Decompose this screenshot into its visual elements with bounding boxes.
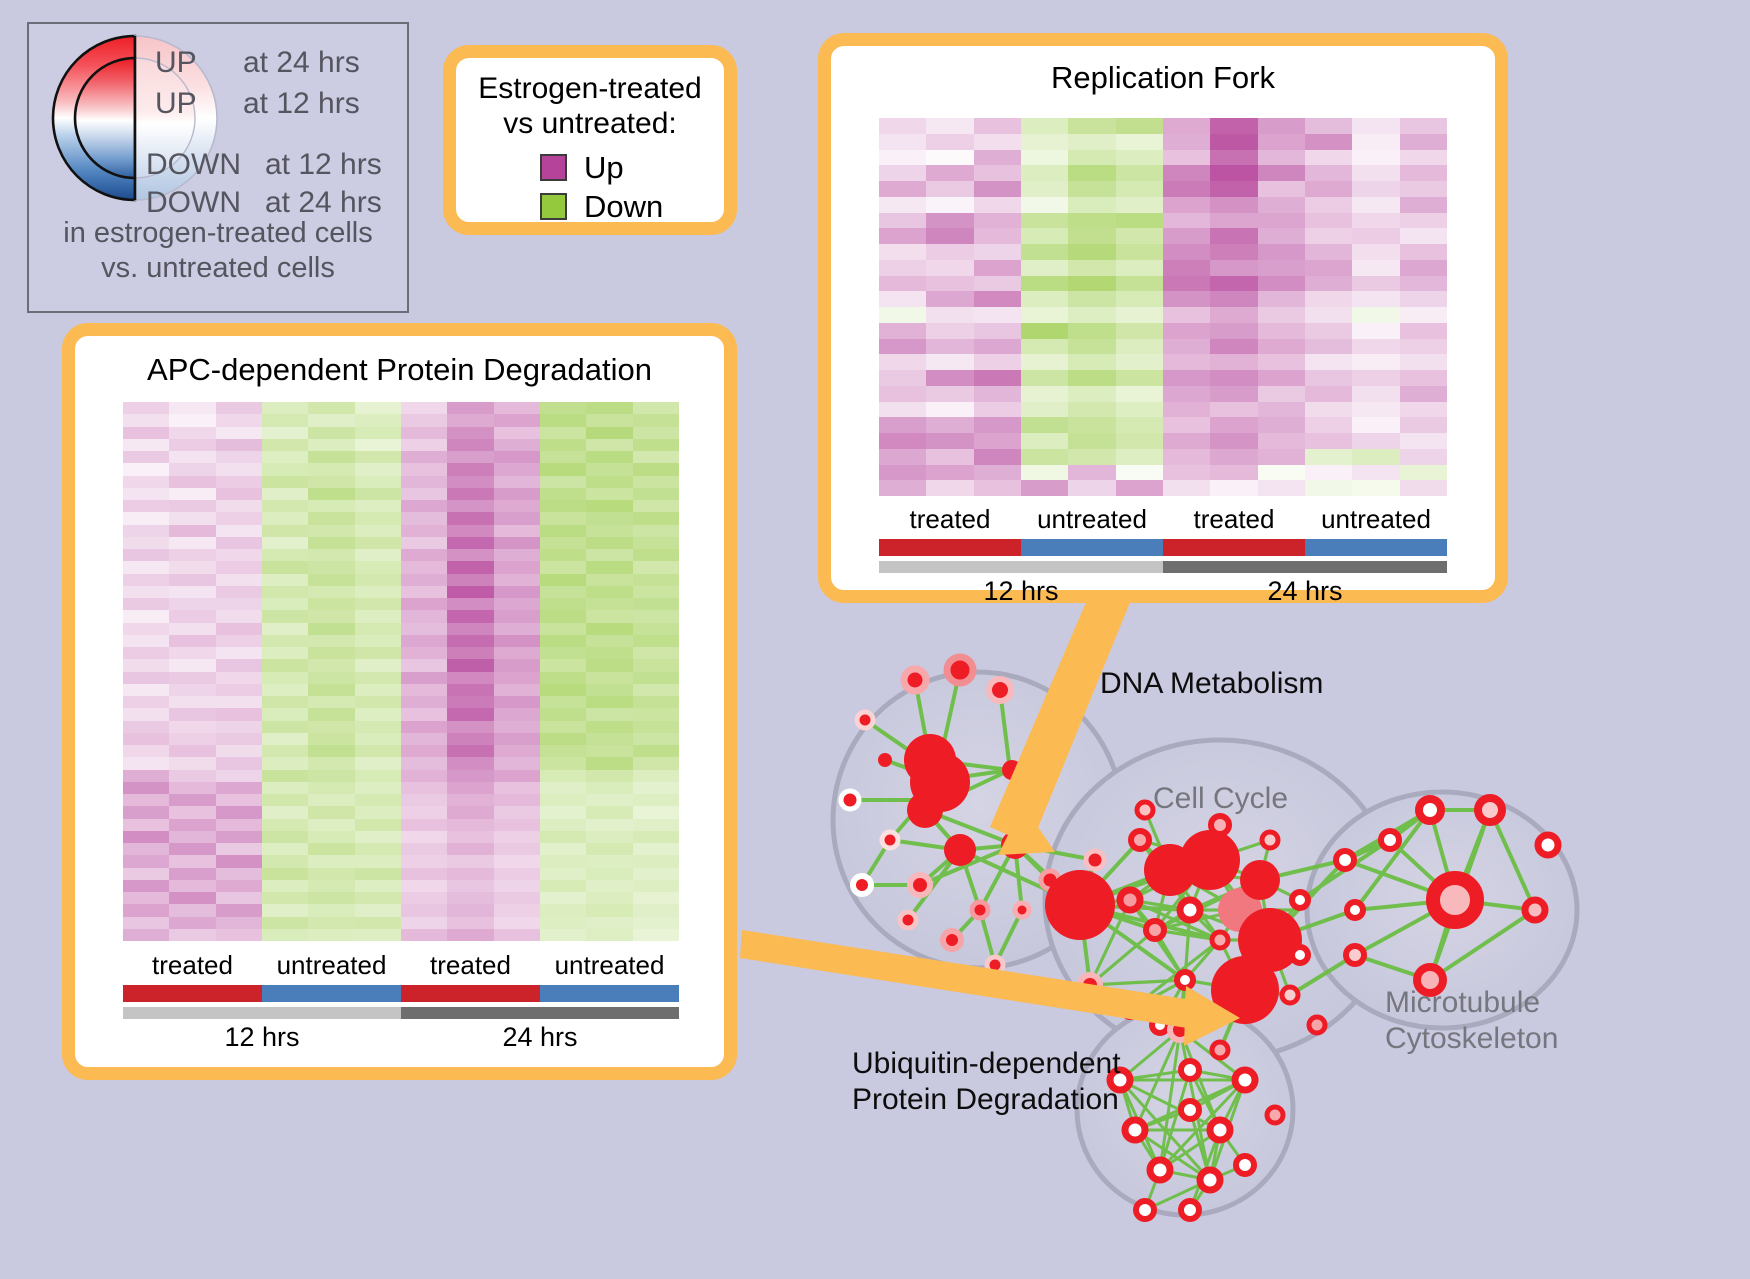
heatmap-cell bbox=[540, 745, 586, 757]
heatmap-cell bbox=[1352, 449, 1399, 465]
heatmap-cell bbox=[974, 480, 1021, 496]
network-node[interactable] bbox=[1346, 946, 1364, 964]
apc-degradation-panel: APC-dependent Protein Degradation treate… bbox=[62, 323, 737, 1080]
network-node[interactable] bbox=[904, 669, 926, 691]
heatmap-cell bbox=[355, 904, 401, 916]
heatmap-cell bbox=[1068, 370, 1115, 386]
heatmap-cell bbox=[540, 439, 586, 451]
network-node[interactable] bbox=[1478, 798, 1502, 822]
network-node[interactable] bbox=[1170, 1020, 1190, 1040]
heatmap-cell bbox=[401, 929, 447, 941]
heatmap-cell bbox=[355, 574, 401, 586]
heatmap-cell bbox=[123, 586, 169, 598]
sample-label-untreated-24: untreated bbox=[540, 950, 679, 981]
heatmap-cell bbox=[494, 549, 540, 561]
heatmap-cell bbox=[401, 831, 447, 843]
heatmap-cell bbox=[1163, 213, 1210, 229]
heatmap-cell bbox=[308, 463, 354, 475]
heatmap-cell bbox=[401, 476, 447, 488]
heatmap-cell bbox=[216, 757, 262, 769]
heatmap-cell bbox=[447, 414, 493, 426]
heatmap-cell bbox=[926, 465, 973, 481]
network-node[interactable] bbox=[853, 876, 871, 894]
network-node[interactable] bbox=[1336, 851, 1354, 869]
heatmap-cell bbox=[1021, 307, 1068, 323]
heatmap-cell bbox=[123, 659, 169, 671]
heatmap-cell bbox=[169, 525, 215, 537]
network-node[interactable] bbox=[1125, 1120, 1145, 1140]
heatmap-cell bbox=[1400, 260, 1447, 276]
network-node[interactable] bbox=[1152, 1017, 1168, 1033]
network-node[interactable] bbox=[947, 657, 973, 683]
heatmap-cell bbox=[633, 770, 679, 782]
heatmap-cell bbox=[123, 463, 169, 475]
heatmap-cell bbox=[262, 782, 308, 794]
network-node[interactable] bbox=[1200, 1170, 1220, 1190]
heatmap-cell bbox=[216, 659, 262, 671]
network-node[interactable] bbox=[1146, 921, 1164, 939]
heatmap-cell bbox=[879, 150, 926, 166]
heatmap-cell bbox=[401, 635, 447, 647]
heatmap-cell bbox=[216, 512, 262, 524]
heatmap-cell bbox=[1400, 197, 1447, 213]
heatmap-cell bbox=[169, 843, 215, 855]
heatmap-cell bbox=[1068, 465, 1115, 481]
heatmap-cell bbox=[586, 868, 632, 880]
heatmap-cell bbox=[879, 449, 926, 465]
heatmap-cell bbox=[633, 806, 679, 818]
heatmap-cell bbox=[1116, 386, 1163, 402]
heatmap-cell bbox=[216, 733, 262, 745]
network-node[interactable] bbox=[1212, 932, 1228, 948]
heatmap-cell bbox=[1163, 118, 1210, 134]
heatmap-cell bbox=[586, 414, 632, 426]
heatmap-cell bbox=[401, 770, 447, 782]
heatmap-cell bbox=[1400, 323, 1447, 339]
heatmap-cell bbox=[1068, 276, 1115, 292]
legend-title-line1: Estrogen-treated bbox=[456, 71, 724, 106]
heatmap-cell bbox=[1163, 417, 1210, 433]
heatmap-cell bbox=[216, 623, 262, 635]
heatmap-cell bbox=[1116, 134, 1163, 150]
network-node[interactable] bbox=[1347, 902, 1363, 918]
key-row-up-12-label: UP bbox=[155, 87, 197, 121]
heatmap-cell bbox=[262, 610, 308, 622]
heatmap-cell bbox=[1258, 354, 1305, 370]
heatmap-cell bbox=[974, 260, 1021, 276]
replication-fork-heatmap-wrap: treated untreated treated untreated 12 h… bbox=[879, 118, 1447, 607]
network-node[interactable] bbox=[1267, 1107, 1283, 1123]
heatmap-cell bbox=[586, 745, 632, 757]
condition-bar-untreated-24 bbox=[1305, 539, 1447, 556]
heatmap-cell bbox=[633, 819, 679, 831]
heatmap-cell bbox=[308, 610, 354, 622]
heatmap-cell bbox=[926, 213, 973, 229]
heatmap-cell bbox=[1400, 386, 1447, 402]
heatmap-cell bbox=[401, 733, 447, 745]
heatmap-cell bbox=[123, 476, 169, 488]
legend-item-up: Up bbox=[540, 150, 724, 186]
heatmap-cell bbox=[123, 782, 169, 794]
heatmap-cell bbox=[216, 451, 262, 463]
heatmap-cell bbox=[633, 917, 679, 929]
heatmap-cell bbox=[879, 197, 926, 213]
heatmap-cell bbox=[974, 323, 1021, 339]
network-node[interactable] bbox=[1002, 760, 1022, 780]
network-node[interactable] bbox=[1181, 1061, 1199, 1079]
heatmap-cell bbox=[355, 782, 401, 794]
heatmap-cell bbox=[262, 868, 308, 880]
heatmap-cell bbox=[586, 586, 632, 598]
heatmap-cell bbox=[1068, 260, 1115, 276]
network-node[interactable] bbox=[1136, 1201, 1154, 1219]
heatmap-cell bbox=[308, 745, 354, 757]
network-node[interactable] bbox=[1180, 830, 1240, 890]
network-node[interactable] bbox=[1262, 832, 1278, 848]
heatmap-cell bbox=[401, 561, 447, 573]
heatmap-cell bbox=[401, 512, 447, 524]
heatmap-cell bbox=[494, 512, 540, 524]
heatmap-cell bbox=[262, 892, 308, 904]
network-node[interactable] bbox=[1211, 816, 1229, 834]
heatmap-cell bbox=[447, 733, 493, 745]
network-node[interactable] bbox=[1181, 1201, 1199, 1219]
heatmap-cell bbox=[355, 721, 401, 733]
heatmap-cell bbox=[169, 610, 215, 622]
heatmap-cell bbox=[401, 794, 447, 806]
network-node[interactable] bbox=[910, 875, 930, 895]
time-label-24hrs: 24 hrs bbox=[401, 1022, 679, 1053]
apc-heatmap-wrap: treated untreated treated untreated 12 h… bbox=[123, 402, 679, 1053]
heatmap-cell bbox=[169, 721, 215, 733]
network-node[interactable] bbox=[1538, 835, 1558, 855]
heatmap-cell bbox=[1163, 339, 1210, 355]
heatmap-cell bbox=[1305, 260, 1352, 276]
heatmap-cell bbox=[494, 782, 540, 794]
heatmap-cell bbox=[355, 770, 401, 782]
heatmap-cell bbox=[633, 843, 679, 855]
heatmap-cell bbox=[262, 806, 308, 818]
heatmap-cell bbox=[123, 855, 169, 867]
heatmap-cell bbox=[633, 831, 679, 843]
heatmap-cell bbox=[1116, 118, 1163, 134]
heatmap-cell bbox=[216, 598, 262, 610]
network-node[interactable] bbox=[900, 912, 916, 928]
heatmap-cell bbox=[540, 525, 586, 537]
heatmap-cell bbox=[216, 672, 262, 684]
heatmap-cell bbox=[926, 244, 973, 260]
heatmap-cell bbox=[169, 427, 215, 439]
heatmap-cell bbox=[401, 586, 447, 598]
heatmap-cell bbox=[401, 684, 447, 696]
heatmap-cell bbox=[1400, 402, 1447, 418]
heatmap-cell bbox=[169, 929, 215, 941]
heatmap-cell bbox=[262, 451, 308, 463]
heatmap-cell bbox=[633, 414, 679, 426]
heatmap-cell bbox=[216, 635, 262, 647]
heatmap-cell bbox=[1116, 339, 1163, 355]
heatmap-cell bbox=[1021, 449, 1068, 465]
network-node[interactable] bbox=[878, 753, 892, 767]
heatmap-cell bbox=[447, 476, 493, 488]
heatmap-cell bbox=[169, 880, 215, 892]
network-node[interactable] bbox=[1235, 1070, 1255, 1090]
heatmap-cell bbox=[355, 806, 401, 818]
heatmap-cell bbox=[494, 917, 540, 929]
network-node[interactable] bbox=[841, 791, 859, 809]
heatmap-cell bbox=[1258, 370, 1305, 386]
heatmap-cell bbox=[1210, 276, 1257, 292]
heatmap-cell bbox=[123, 402, 169, 414]
heatmap-cell bbox=[586, 561, 632, 573]
heatmap-cell bbox=[540, 647, 586, 659]
heatmap-cell bbox=[540, 904, 586, 916]
heatmap-cell bbox=[1116, 465, 1163, 481]
heatmap-cell bbox=[1210, 354, 1257, 370]
network-node[interactable] bbox=[1292, 892, 1308, 908]
heatmap-cell bbox=[1210, 480, 1257, 496]
network-node[interactable] bbox=[1150, 1160, 1170, 1180]
heatmap-cell bbox=[974, 244, 1021, 260]
heatmap-cell bbox=[926, 165, 973, 181]
heatmap-cell bbox=[633, 757, 679, 769]
heatmap-cell bbox=[633, 549, 679, 561]
heatmap-cell bbox=[494, 904, 540, 916]
sample-label-treated-24: treated bbox=[401, 950, 540, 981]
heatmap-cell bbox=[1068, 417, 1115, 433]
network-node[interactable] bbox=[1212, 1042, 1228, 1058]
heatmap-cell bbox=[401, 721, 447, 733]
heatmap-cell bbox=[1021, 370, 1068, 386]
heatmap-cell bbox=[1068, 213, 1115, 229]
heatmap-cell bbox=[262, 635, 308, 647]
heatmap-cell bbox=[447, 525, 493, 537]
heatmap-cell bbox=[1163, 291, 1210, 307]
network-node[interactable] bbox=[1292, 947, 1308, 963]
heatmap-cell bbox=[401, 488, 447, 500]
sample-label-untreated-24: untreated bbox=[1305, 504, 1447, 535]
heatmap-cell bbox=[401, 708, 447, 720]
heatmap-cell bbox=[262, 745, 308, 757]
heatmap-cell bbox=[262, 574, 308, 586]
network-node[interactable] bbox=[1240, 860, 1280, 900]
network-node[interactable] bbox=[1080, 975, 1100, 995]
heatmap-cell bbox=[1400, 213, 1447, 229]
heatmap-cell bbox=[1116, 354, 1163, 370]
heatmap-cell bbox=[308, 868, 354, 880]
heatmap-cell bbox=[123, 892, 169, 904]
network-node-hub[interactable] bbox=[1045, 870, 1115, 940]
heatmap-cell bbox=[540, 831, 586, 843]
legend-item-down: Down bbox=[540, 189, 724, 225]
network-node[interactable] bbox=[943, 931, 961, 949]
heatmap-cell bbox=[447, 500, 493, 512]
network-node[interactable] bbox=[1309, 1017, 1325, 1033]
heatmap-cell bbox=[879, 165, 926, 181]
heatmap-cell bbox=[447, 708, 493, 720]
heatmap-cell bbox=[447, 488, 493, 500]
heatmap-cell bbox=[401, 672, 447, 684]
network-node[interactable] bbox=[1433, 878, 1477, 922]
heatmap-cell bbox=[262, 708, 308, 720]
network-node[interactable] bbox=[944, 834, 976, 866]
heatmap-cell bbox=[1116, 402, 1163, 418]
heatmap-cell bbox=[1021, 291, 1068, 307]
heatmap-cell bbox=[1305, 307, 1352, 323]
heatmap-cell bbox=[879, 213, 926, 229]
network-node[interactable] bbox=[857, 712, 873, 728]
heatmap-cell bbox=[355, 610, 401, 622]
heatmap-cell bbox=[1352, 260, 1399, 276]
apc-degradation-title: APC-dependent Protein Degradation bbox=[75, 336, 724, 388]
heatmap-cell bbox=[262, 904, 308, 916]
heatmap-cell bbox=[216, 684, 262, 696]
heatmap-cell bbox=[540, 721, 586, 733]
heatmap-cell bbox=[1352, 402, 1399, 418]
network-node[interactable] bbox=[1525, 900, 1545, 920]
network-node[interactable] bbox=[1008, 792, 1024, 808]
heatmap-cell bbox=[1021, 165, 1068, 181]
network-node[interactable] bbox=[1381, 831, 1399, 849]
heatmap-cell bbox=[1305, 465, 1352, 481]
heatmap-cell bbox=[123, 647, 169, 659]
heatmap-cell bbox=[123, 672, 169, 684]
network-node[interactable] bbox=[987, 957, 1003, 973]
network-node[interactable] bbox=[1131, 831, 1149, 849]
network-node[interactable] bbox=[1180, 900, 1200, 920]
heatmap-cell bbox=[1352, 386, 1399, 402]
network-node[interactable] bbox=[1120, 1000, 1140, 1020]
heatmap-cell bbox=[355, 855, 401, 867]
network-node[interactable] bbox=[907, 792, 943, 828]
heatmap-cell bbox=[1305, 339, 1352, 355]
heatmap-cell bbox=[974, 370, 1021, 386]
heatmap-cell bbox=[262, 623, 308, 635]
network-node[interactable] bbox=[972, 902, 988, 918]
heatmap-cell bbox=[879, 465, 926, 481]
apc-time-labels: 12 hrs 24 hrs bbox=[123, 1022, 679, 1053]
heatmap-cell bbox=[494, 414, 540, 426]
heatmap-cell bbox=[540, 549, 586, 561]
heatmap-cell bbox=[1021, 213, 1068, 229]
heatmap-cell bbox=[1210, 291, 1257, 307]
heatmap-cell bbox=[169, 488, 215, 500]
heatmap-cell bbox=[1021, 339, 1068, 355]
heatmap-cell bbox=[355, 745, 401, 757]
network-node[interactable] bbox=[1210, 1120, 1230, 1140]
network-node[interactable] bbox=[1120, 890, 1140, 910]
heatmap-cell bbox=[447, 610, 493, 622]
heatmap-cell bbox=[401, 880, 447, 892]
network-node[interactable] bbox=[1001, 831, 1029, 859]
network-node[interactable] bbox=[1419, 799, 1441, 821]
heatmap-cell bbox=[1400, 228, 1447, 244]
heatmap-cell bbox=[355, 402, 401, 414]
heatmap-cell bbox=[308, 402, 354, 414]
heatmap-cell bbox=[308, 476, 354, 488]
heatmap-cell bbox=[879, 480, 926, 496]
heatmap-cell bbox=[262, 561, 308, 573]
condition-bar-untreated-12 bbox=[1021, 539, 1163, 556]
heatmap-cell bbox=[1400, 118, 1447, 134]
heatmap-cell bbox=[1258, 307, 1305, 323]
replication-fork-heatmap bbox=[879, 118, 1447, 496]
network-node[interactable] bbox=[1181, 1101, 1199, 1119]
network-node[interactable] bbox=[1282, 987, 1298, 1003]
network-node[interactable] bbox=[1177, 972, 1193, 988]
heatmap-cell bbox=[633, 684, 679, 696]
heatmap-cell bbox=[1352, 354, 1399, 370]
heatmap-cell bbox=[586, 794, 632, 806]
heatmap-cell bbox=[355, 647, 401, 659]
heatmap-cell bbox=[494, 708, 540, 720]
heatmap-cell bbox=[494, 635, 540, 647]
heatmap-cell bbox=[1305, 370, 1352, 386]
network-node[interactable] bbox=[1137, 802, 1153, 818]
heatmap-cell bbox=[216, 843, 262, 855]
heatmap-cell bbox=[494, 745, 540, 757]
heatmap-cell bbox=[974, 307, 1021, 323]
heatmap-cell bbox=[216, 549, 262, 561]
heatmap-cell bbox=[401, 647, 447, 659]
heatmap-cell bbox=[355, 868, 401, 880]
heatmap-cell bbox=[401, 439, 447, 451]
heatmap-cell bbox=[216, 463, 262, 475]
heatmap-cell bbox=[494, 855, 540, 867]
heatmap-cell bbox=[169, 561, 215, 573]
heatmap-cell bbox=[216, 525, 262, 537]
heatmap-cell bbox=[1163, 150, 1210, 166]
heatmap-cell bbox=[169, 831, 215, 843]
heatmap-cell bbox=[308, 598, 354, 610]
heatmap-cell bbox=[879, 323, 926, 339]
heatmap-cell bbox=[633, 610, 679, 622]
network-node[interactable] bbox=[1086, 851, 1104, 869]
network-node[interactable] bbox=[989, 679, 1011, 701]
network-node[interactable] bbox=[1211, 956, 1279, 1024]
heatmap-cell bbox=[308, 831, 354, 843]
heatmap-cell bbox=[401, 843, 447, 855]
heatmap-cell bbox=[262, 684, 308, 696]
legend-items: Up Down bbox=[456, 150, 724, 225]
heatmap-cell bbox=[1210, 213, 1257, 229]
heatmap-cell bbox=[540, 794, 586, 806]
heatmap-cell bbox=[1352, 370, 1399, 386]
heatmap-cell bbox=[974, 150, 1021, 166]
heatmap-cell bbox=[216, 831, 262, 843]
heatmap-cell bbox=[216, 414, 262, 426]
heatmap-cell bbox=[1116, 291, 1163, 307]
heatmap-cell bbox=[540, 782, 586, 794]
heatmap-cell bbox=[308, 561, 354, 573]
heatmap-cell bbox=[262, 488, 308, 500]
heatmap-cell bbox=[308, 892, 354, 904]
heatmap-cell bbox=[308, 427, 354, 439]
heatmap-cell bbox=[169, 647, 215, 659]
heatmap-cell bbox=[586, 451, 632, 463]
color-key-footer: in estrogen-treated cells vs. untreated … bbox=[29, 216, 407, 287]
network-node[interactable] bbox=[1015, 903, 1029, 917]
network-node[interactable] bbox=[1236, 1156, 1254, 1174]
heatmap-cell bbox=[926, 417, 973, 433]
heatmap-cell bbox=[494, 598, 540, 610]
heatmap-cell bbox=[123, 549, 169, 561]
heatmap-cell bbox=[447, 427, 493, 439]
heatmap-cell bbox=[169, 574, 215, 586]
condition-bar-untreated-24 bbox=[540, 985, 679, 1002]
heatmap-cell bbox=[401, 414, 447, 426]
network-node[interactable] bbox=[882, 832, 898, 848]
